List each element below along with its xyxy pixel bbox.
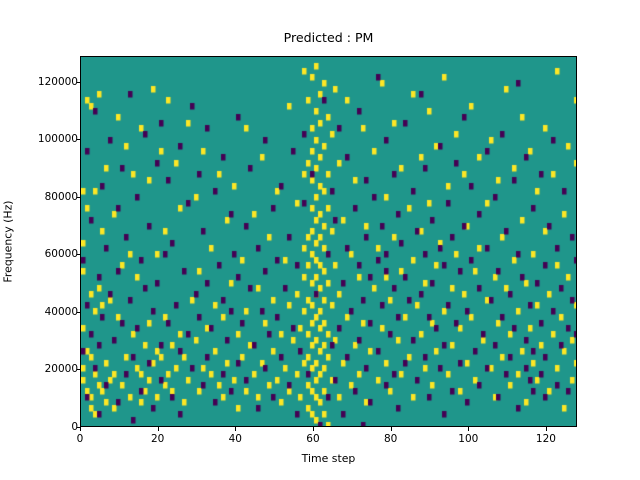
x-tick-label: 0	[77, 433, 84, 445]
x-tick-mark	[158, 427, 159, 431]
x-tick-mark	[80, 427, 81, 431]
y-tick-label: 0	[71, 421, 78, 433]
y-tick-label: 120000	[38, 76, 78, 88]
x-tick-label: 120	[536, 433, 556, 445]
matplotlib-figure: Predicted : PM Time step Frequency (Hz) …	[0, 0, 640, 480]
x-tick-mark	[235, 427, 236, 431]
x-tick-mark	[546, 427, 547, 431]
x-tick-mark	[391, 427, 392, 431]
x-tick-mark	[313, 427, 314, 431]
y-axis-label-text: Frequency (Hz)	[2, 200, 15, 282]
heatmap-plot-area[interactable]	[80, 56, 577, 427]
x-tick-label: 100	[458, 433, 478, 445]
y-tick-label: 100000	[38, 133, 78, 145]
x-tick-label: 40	[229, 433, 242, 445]
y-tick-label: 20000	[45, 363, 78, 375]
y-axis-label: Frequency (Hz)	[0, 56, 16, 427]
y-tick-label: 40000	[45, 306, 78, 318]
x-tick-mark	[468, 427, 469, 431]
y-tick-label: 60000	[45, 248, 78, 260]
x-tick-label: 20	[151, 433, 164, 445]
page-title: Predicted : PM	[80, 30, 577, 45]
x-axis-label: Time step	[80, 452, 577, 465]
x-tick-label: 80	[384, 433, 397, 445]
y-tick-label: 80000	[45, 191, 78, 203]
heatmap-canvas	[81, 57, 577, 427]
x-tick-label: 60	[306, 433, 319, 445]
